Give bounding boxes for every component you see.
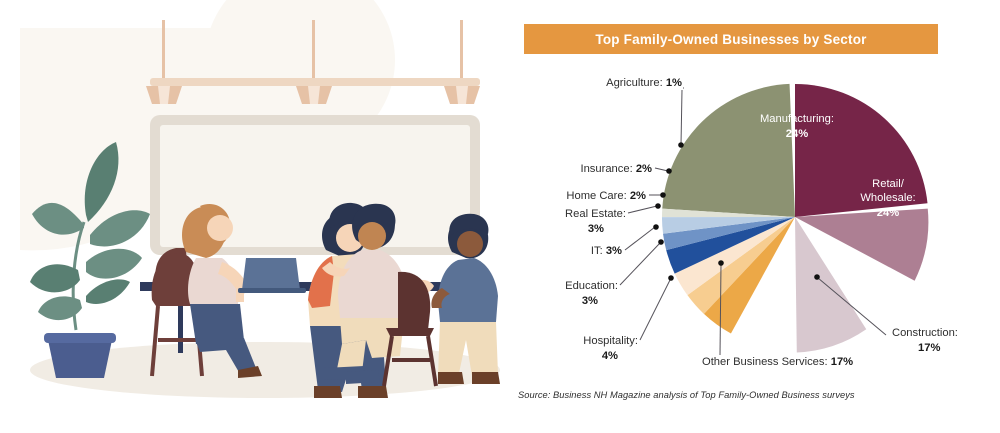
- label-construction: Construction:: [892, 327, 958, 339]
- label-retail-line2: Wholesale:: [860, 192, 915, 204]
- pie-chart: Agriculture: 1% Insurance: 2% Home Care:…: [500, 0, 1000, 400]
- label-manufacturing: Manufacturing:: [760, 113, 834, 125]
- label-manufacturing-pct: 24%: [786, 128, 808, 140]
- office-meeting-illustration: [0, 0, 500, 428]
- label-agriculture: Agriculture: 1%: [606, 77, 682, 89]
- chart-panel: Top Family-Owned Businesses by Sector: [500, 0, 1000, 428]
- pie-slice-manufacturing[interactable]: [662, 76, 803, 217]
- label-retail-pct: 24%: [877, 207, 899, 219]
- label-home-care: Home Care: 2%: [566, 190, 646, 202]
- page-root: Top Family-Owned Businesses by Sector: [0, 0, 1000, 428]
- label-construction-pct: 17%: [918, 342, 940, 354]
- chart-source-note: Source: Business NH Magazine analysis of…: [518, 390, 988, 400]
- label-insurance: Insurance: 2%: [580, 163, 652, 175]
- label-hospitality-pct: 4%: [602, 350, 618, 362]
- label-real-estate: Real Estate:: [565, 208, 626, 220]
- label-other-business-services: Other Business Services: 17%: [702, 356, 853, 368]
- label-it: IT: 3%: [591, 245, 622, 257]
- label-hospitality: Hospitality:: [583, 335, 638, 347]
- label-retail-line1: Retail/: [872, 178, 905, 190]
- label-education-pct: 3%: [582, 295, 598, 307]
- label-education: Education:: [565, 280, 618, 292]
- label-real-estate-pct: 3%: [588, 223, 604, 235]
